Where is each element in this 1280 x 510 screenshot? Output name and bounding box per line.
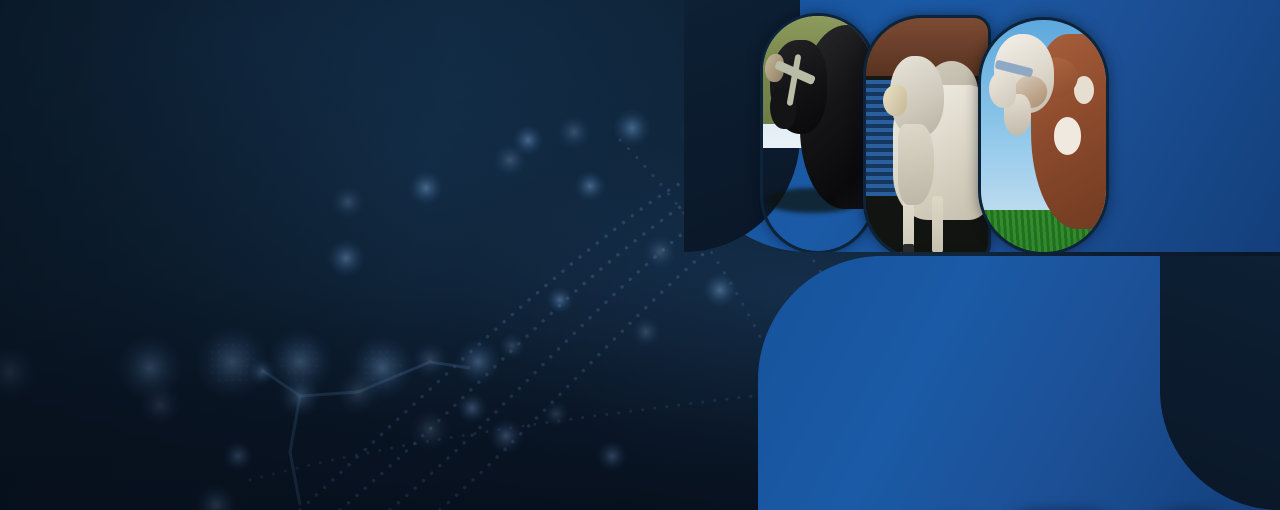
photo-3-coat-patch-a	[1054, 117, 1082, 154]
photo-frame-3[interactable]	[981, 20, 1106, 252]
photo-frame-1[interactable]	[763, 16, 873, 251]
cattle-photo-collage	[676, 0, 1280, 510]
hero-banner	[0, 0, 1280, 510]
photo-frame-2[interactable]	[866, 18, 988, 252]
collage-row-bottom	[758, 256, 1280, 510]
photo-2-bull-hindleg	[932, 196, 943, 252]
photo-3-bull-muzzle	[989, 71, 1017, 108]
photo-2-bull-ear	[883, 85, 907, 116]
photo-2-bull-hoof	[903, 244, 914, 252]
collage-row-top	[684, 0, 1280, 252]
